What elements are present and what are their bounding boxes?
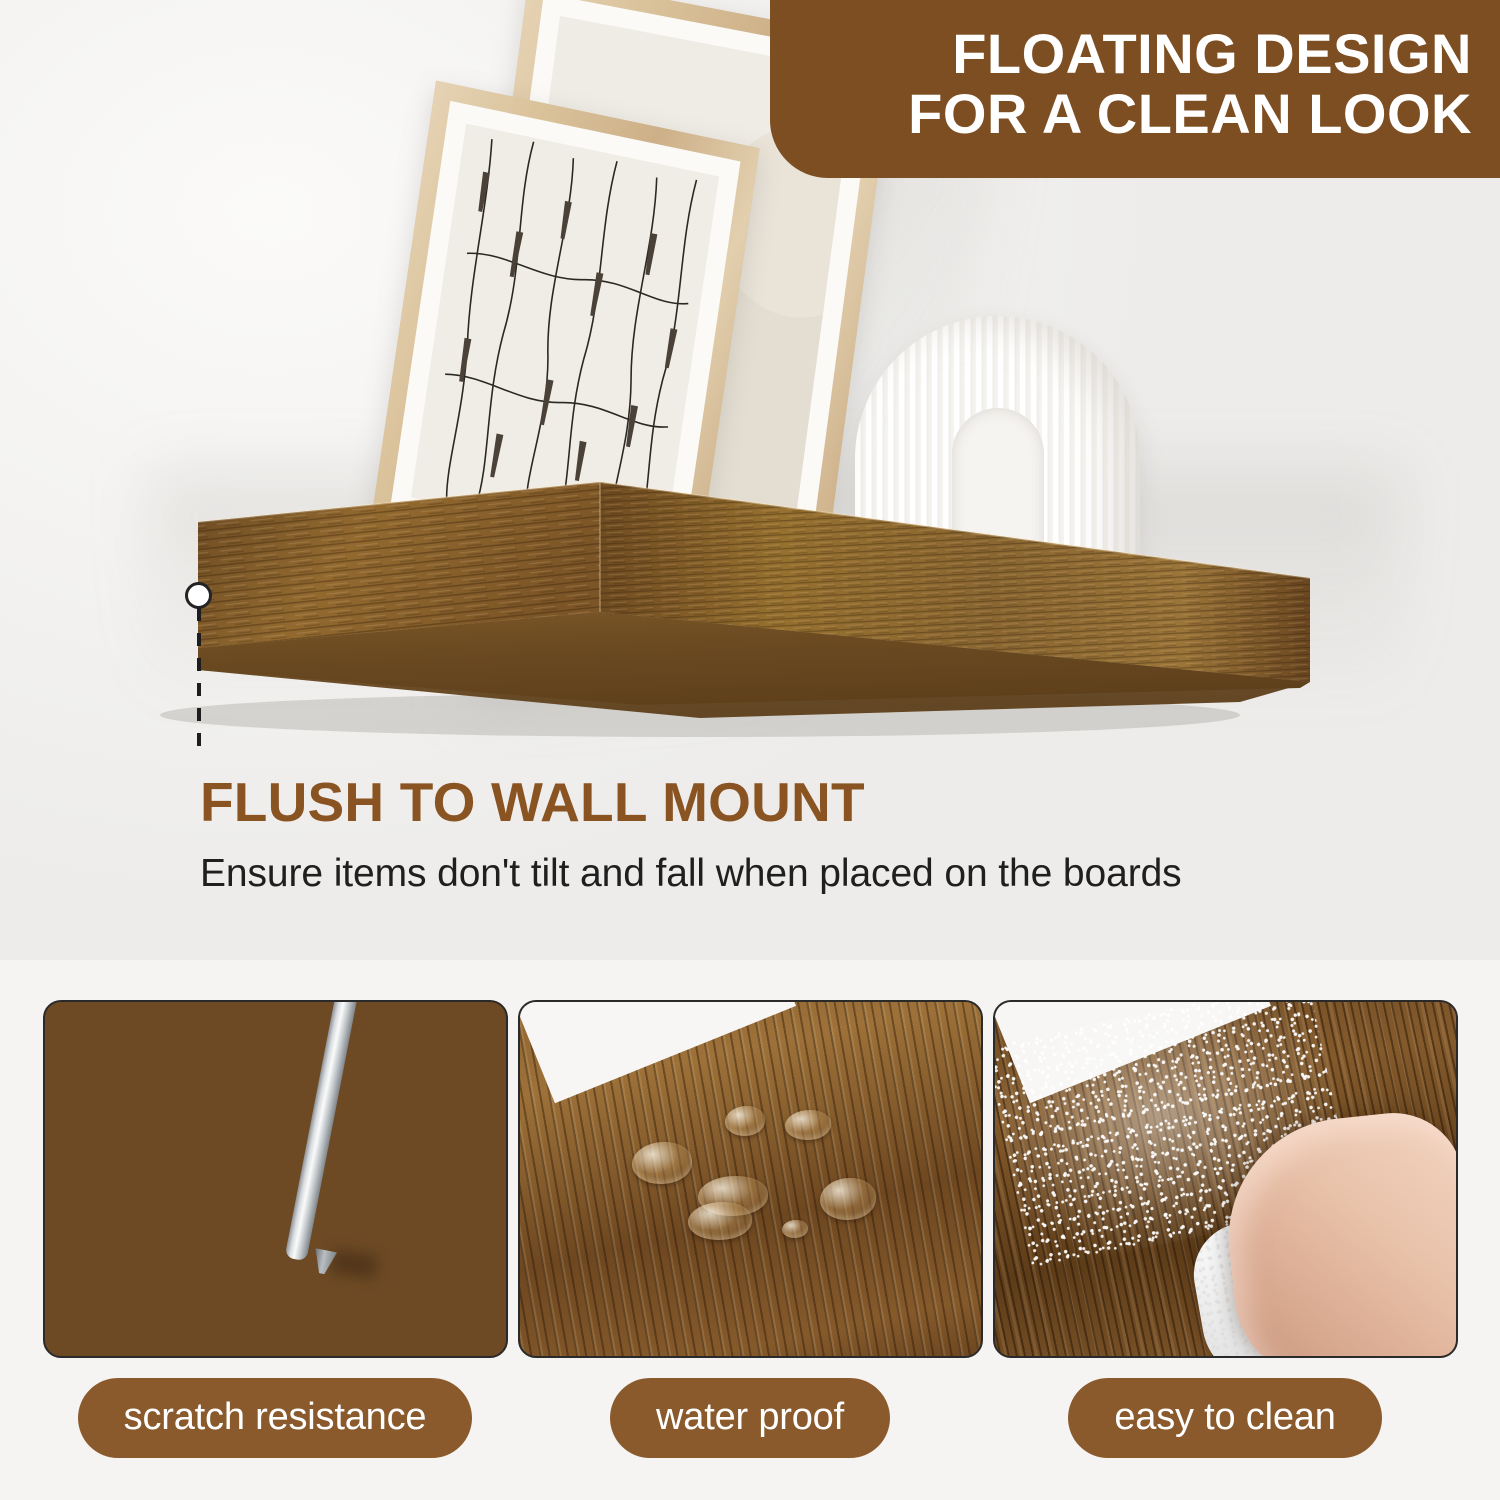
- wood-texture: [43, 1000, 508, 1358]
- water-droplet-icon: [820, 1178, 876, 1220]
- banner-line-1: FLOATING DESIGN: [812, 24, 1472, 84]
- water-droplet-icon: [688, 1202, 752, 1240]
- headline-title: FLUSH TO WALL MOUNT: [200, 775, 1182, 830]
- headline-block: FLUSH TO WALL MOUNT Ensure items don't t…: [200, 775, 1182, 896]
- feature-item: scratch resistance: [43, 1000, 508, 1460]
- floating-shelf: [0, 470, 1500, 760]
- banner: FLOATING DESIGN FOR A CLEAN LOOK: [770, 0, 1500, 178]
- wiping-powder-off-wood-photo: [993, 1000, 1458, 1358]
- product-feature-image: FLOATING DESIGN FOR A CLEAN LOOK FLUSH T…: [0, 0, 1500, 1500]
- water-droplets-on-wood-photo: [518, 1000, 983, 1358]
- feature-item: water proof: [518, 1000, 983, 1460]
- banner-line-2: FOR A CLEAN LOOK: [812, 84, 1472, 144]
- flush-mount-dot-icon: [185, 582, 212, 609]
- headline-subtitle: Ensure items don't tilt and fall when pl…: [200, 852, 1182, 896]
- callout-dashed-line: [197, 608, 201, 750]
- feature-label-water-proof: water proof: [610, 1378, 890, 1458]
- feature-label-scratch-resistance: scratch resistance: [78, 1378, 473, 1458]
- screwdriver-on-wood-photo: [43, 1000, 508, 1358]
- water-droplet-icon: [725, 1106, 765, 1136]
- feature-panels: scratch resistance water proof: [0, 1000, 1500, 1460]
- water-droplet-icon: [782, 1220, 808, 1238]
- water-droplet-icon: [632, 1142, 692, 1184]
- feature-label-easy-to-clean: easy to clean: [1068, 1378, 1381, 1458]
- feature-item: easy to clean: [993, 1000, 1458, 1460]
- water-droplet-icon: [785, 1110, 831, 1140]
